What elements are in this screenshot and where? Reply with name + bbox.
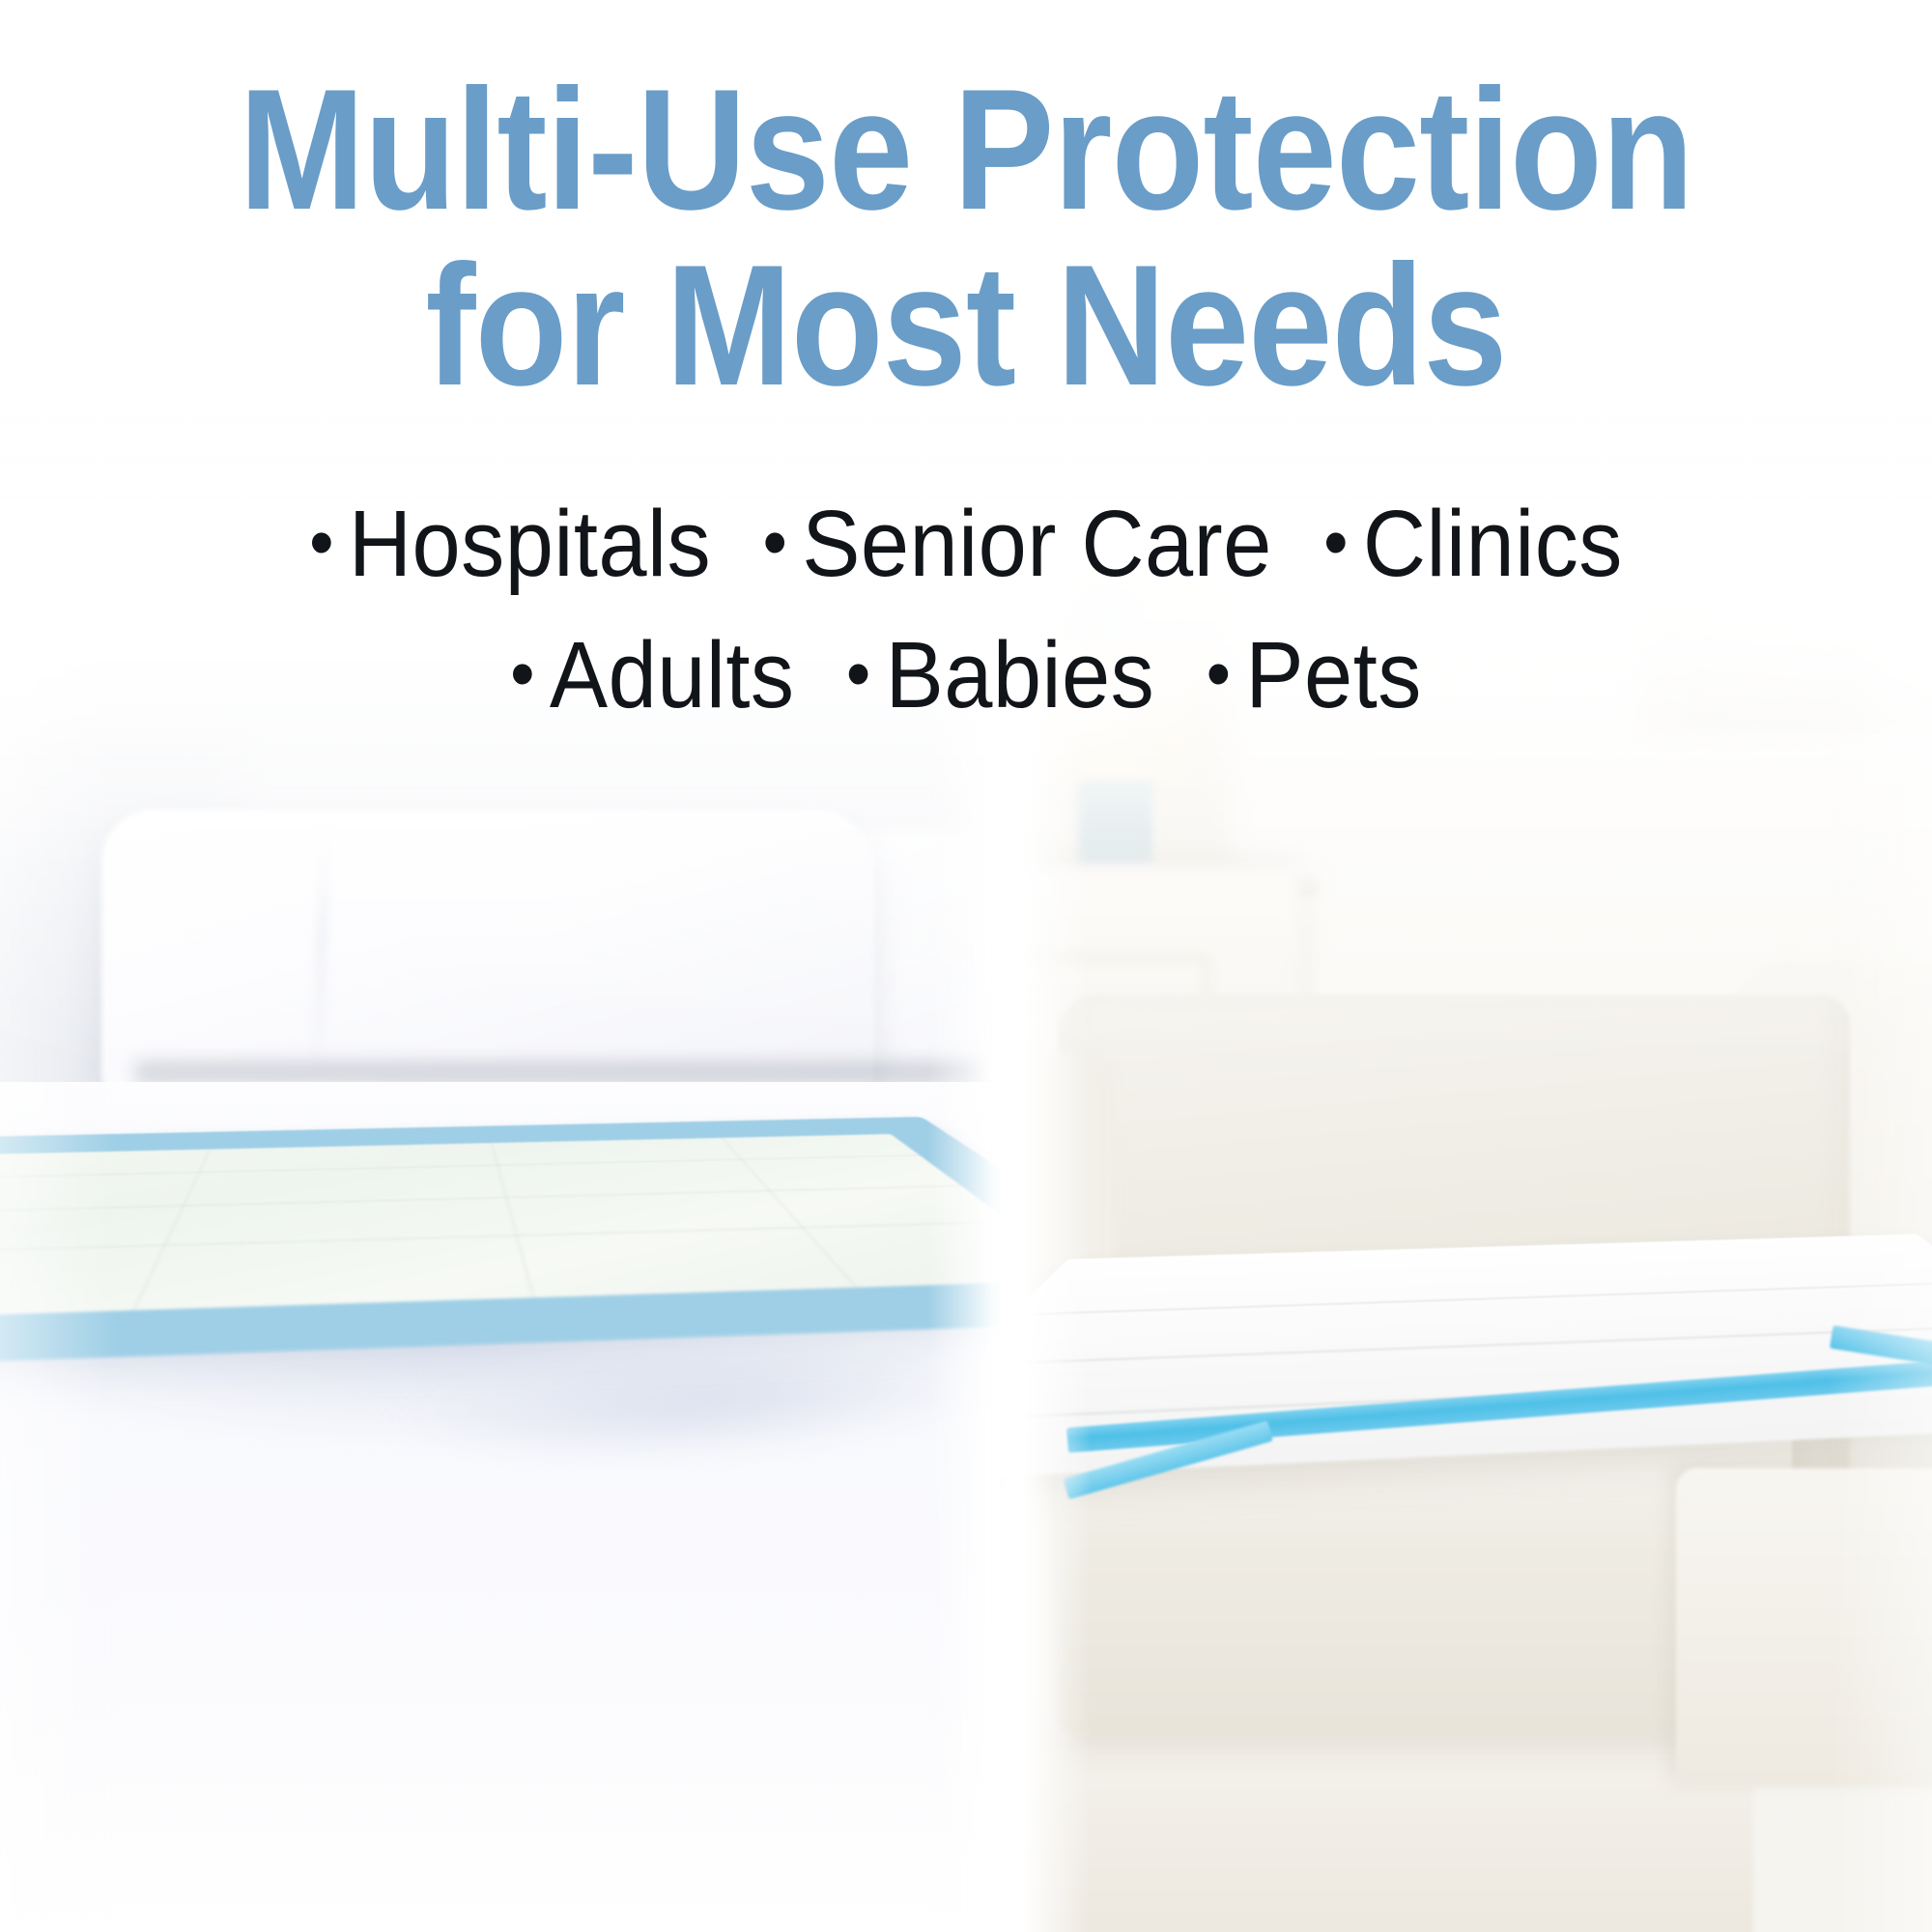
photo-divider: [927, 541, 1092, 1932]
headline-line-1: Multi-Use Protection: [116, 62, 1816, 238]
list-item: •Clinics: [1296, 477, 1623, 609]
bullet-dot-icon: •: [1207, 609, 1232, 738]
bullet-dot-icon: •: [510, 609, 535, 738]
use-case-label: Senior Care: [802, 491, 1271, 596]
bullet-dot-icon: •: [763, 477, 788, 607]
promo-image: Multi-Use Protection for Most Needs •Hos…: [0, 0, 1932, 1932]
use-case-label: Adults: [550, 622, 795, 727]
use-case-row-1: •Hospitals •Senior Care •Clinics: [68, 477, 1864, 609]
use-case-label: Hospitals: [349, 491, 711, 596]
use-case-label: Babies: [886, 622, 1155, 727]
page-title: Multi-Use Protection for Most Needs: [116, 0, 1816, 413]
list-item: •Adults: [510, 609, 794, 740]
use-case-list: •Hospitals •Senior Care •Clinics •Adults…: [0, 413, 1932, 740]
bullet-dot-icon: •: [846, 609, 871, 738]
bullet-dot-icon: •: [1323, 477, 1349, 607]
list-item: •Hospitals: [309, 477, 711, 609]
bullet-dot-icon: •: [309, 477, 334, 607]
headline-line-2: for Most Needs: [116, 238, 1816, 413]
sofa-base: [1019, 1700, 1753, 1932]
use-case-label: Clinics: [1363, 491, 1623, 596]
pillow: [101, 810, 874, 1099]
use-case-label: Pets: [1245, 622, 1421, 727]
text-overlay: Multi-Use Protection for Most Needs •Hos…: [0, 0, 1932, 740]
underpad-core: [0, 1134, 1009, 1322]
sofa-seat-cushion-right: [1676, 1468, 1932, 1787]
list-item: •Babies: [819, 609, 1154, 740]
photo-hospital-bed: [0, 541, 1009, 1932]
list-item: •Senior Care: [736, 477, 1272, 609]
use-case-row-2: •Adults •Babies •Pets: [68, 609, 1864, 740]
list-item: •Pets: [1179, 609, 1422, 740]
